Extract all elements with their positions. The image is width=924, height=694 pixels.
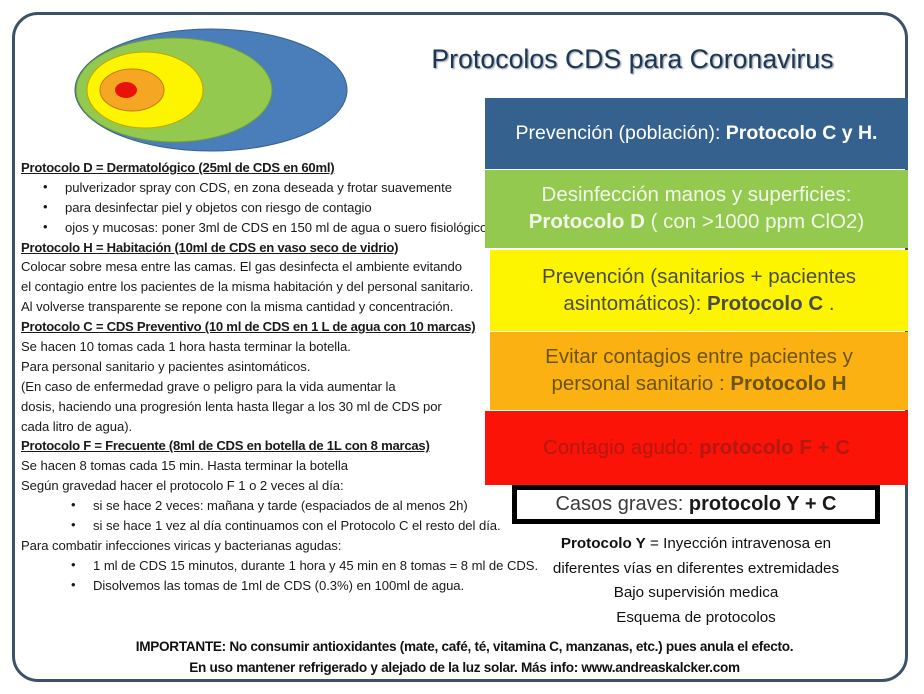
footer-warning: IMPORTANTE: No consumir antioxidantes (m…: [62, 636, 867, 678]
concentric-ellipses-logo: [74, 28, 348, 152]
protocolo-y-label: Protocolo Y: [561, 535, 646, 552]
protocolo-y-note: Protocolo Y = Inyección intravenosa en d…: [486, 532, 906, 631]
protocolo-y-line4: Esquema de protocolos: [486, 606, 906, 631]
heading-protocolo-c: Protocolo C = CDS Preventivo (10 ml de C…: [21, 317, 491, 337]
band-bold-text: Protocolo D: [529, 210, 645, 233]
infographic-page: Protocolos CDS para Coronavirus Protocol…: [0, 0, 924, 694]
callout-casos-graves: Casos graves: protocolo Y + C: [512, 485, 880, 524]
logo-ring-red-core: [115, 82, 137, 98]
band-contagio-agudo: Contagio agudo: protocolo F + C: [485, 411, 908, 485]
band-desinfeccion-manos-superficies: Desinfección manos y superficies: Protoc…: [485, 170, 908, 248]
list-item: Disolvemos las tomas de 1ml de CDS (0.3%…: [69, 576, 491, 596]
band-prevencion-poblacion: Prevención (población): Protocolo C y H.: [485, 98, 908, 169]
band-prevencion-sanitarios: Prevención (sanitarios + pacientes asint…: [490, 250, 908, 331]
band-text-after: ( con >1000 ppm ClO2): [645, 210, 864, 233]
page-title: Protocolos CDS para Coronavirus: [360, 44, 905, 75]
protocolo-y-line1: Protocolo Y = Inyección intravenosa en: [486, 532, 906, 557]
protocolo-y-line3: Bajo supervisión medica: [486, 581, 906, 606]
band-bold-text: protocolo F + C: [699, 436, 850, 459]
text-line: cada litro de agua).: [21, 417, 491, 437]
text-line: Para personal sanitario y pacientes asin…: [21, 357, 491, 377]
list-item: para desinfectar piel y objetos con ries…: [41, 198, 491, 218]
footer-line-2: En uso mantener refrigerado y alejado de…: [62, 657, 867, 678]
band-text: Prevención (población):: [516, 122, 726, 144]
text-line: Para combatir infecciones viricas y bact…: [21, 536, 491, 556]
footer-line-1: IMPORTANTE: No consumir antioxidantes (m…: [62, 636, 867, 657]
list-item: ojos y mucosas: poner 3ml de CDS en 150 …: [41, 218, 491, 238]
text-line: Al volverse transparente se repone con l…: [21, 297, 491, 317]
band-text: Contagio agudo:: [543, 436, 699, 459]
list-item: si se hace 2 veces: mañana y tarde (espa…: [69, 496, 491, 516]
text-line: Colocar sobre mesa entre las camas. El g…: [21, 257, 491, 277]
heading-protocolo-d: Protocolo D = Dermatológico (25ml de CDS…: [21, 158, 491, 178]
list-item: si se hace 1 vez al día continuamos con …: [69, 516, 491, 536]
list-item: 1 ml de CDS 15 minutos, durante 1 hora y…: [69, 556, 491, 576]
text-line: Según gravedad hacer el protocolo F 1 o …: [21, 476, 491, 496]
text-line: Se hacen 8 tomas cada 15 min. Hasta term…: [21, 456, 491, 476]
callout-bold-text: protocolo Y + C: [689, 493, 837, 515]
band-bold-text: Protocolo C: [707, 292, 823, 315]
band-bold-text: Protocolo H: [730, 372, 846, 395]
heading-protocolo-h: Protocolo H = Habitación (10ml de CDS en…: [21, 238, 491, 258]
text-line: Se hacen 10 tomas cada 1 hora hasta term…: [21, 337, 491, 357]
band-text-after: .: [823, 292, 834, 315]
band-bold-text: Protocolo C y H.: [726, 122, 878, 144]
text-line: dosis, haciendo una progresión lenta has…: [21, 397, 491, 417]
band-text: Desinfección manos y superficies:: [542, 183, 852, 206]
band-evitar-contagios: Evitar contagios entre pacientes y perso…: [490, 332, 908, 410]
bullet-list-protocolo-f-acute: 1 ml de CDS 15 minutos, durante 1 hora y…: [21, 556, 491, 596]
protocolo-y-line2: diferentes vías en diferentes extremidad…: [486, 557, 906, 582]
bullet-list-protocolo-f-frequency: si se hace 2 veces: mañana y tarde (espa…: [21, 496, 491, 536]
bullet-list-protocolo-d: pulverizador spray con CDS, en zona dese…: [21, 178, 491, 238]
protocolo-y-line1-rest: = Inyección intravenosa en: [646, 535, 831, 552]
protocols-text-column: Protocolo D = Dermatológico (25ml de CDS…: [21, 158, 491, 596]
text-line: (En caso de enfermedad grave o peligro p…: [21, 377, 491, 397]
heading-protocolo-f: Protocolo F = Frecuente (8ml de CDS en b…: [21, 436, 491, 456]
list-item: pulverizador spray con CDS, en zona dese…: [41, 178, 491, 198]
callout-text: Casos graves:: [555, 493, 688, 515]
text-line: el contagio entre los pacientes de la mi…: [21, 277, 491, 297]
